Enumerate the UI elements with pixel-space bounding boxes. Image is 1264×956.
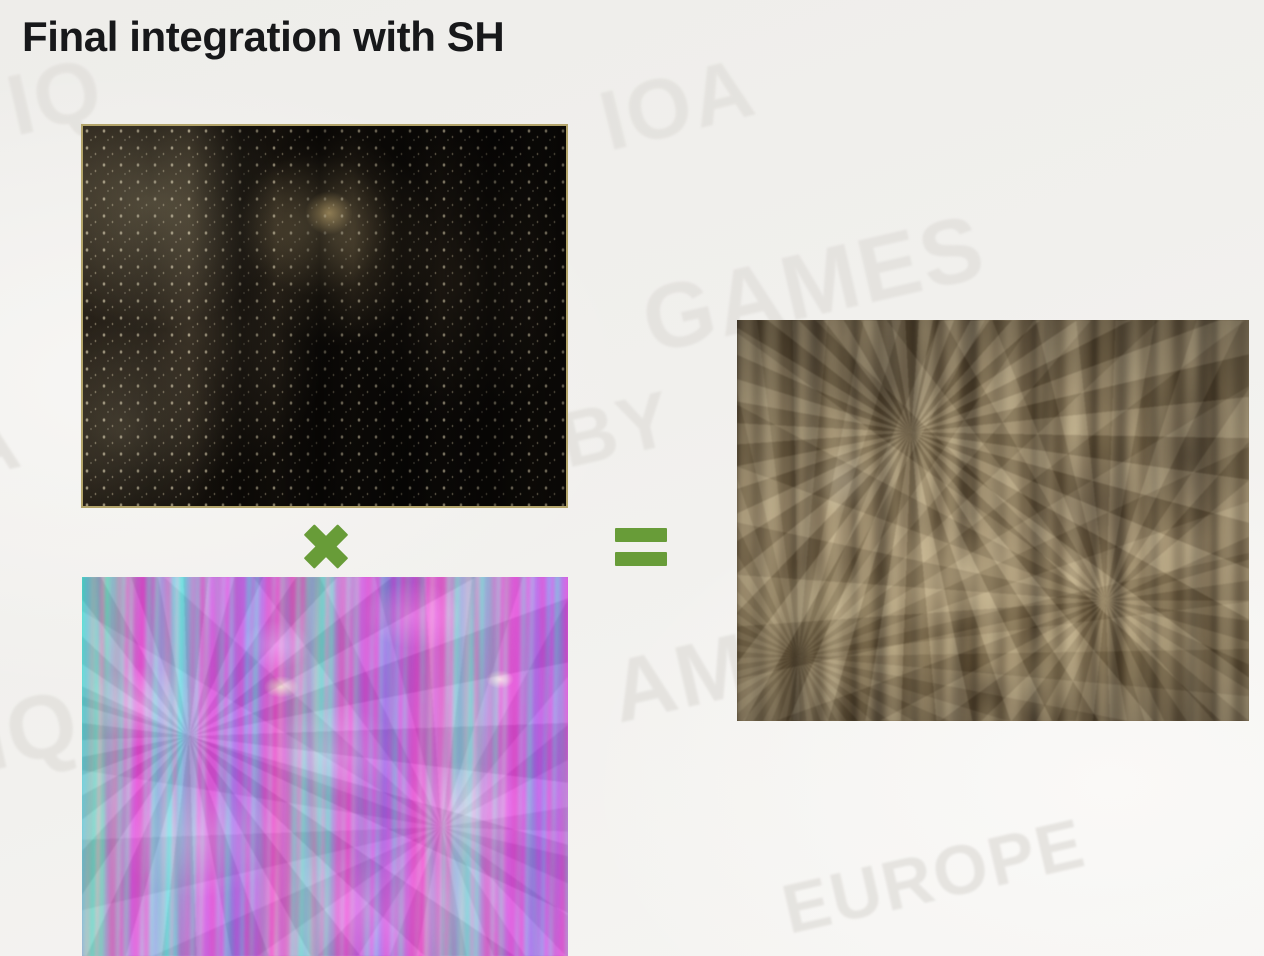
watermark-text: IQ [0, 670, 89, 793]
watermark-text: A [0, 394, 29, 497]
final-render-image [737, 320, 1249, 721]
equals-operator-icon [615, 526, 673, 568]
watermark-text: BY [551, 373, 681, 487]
equals-stroke [615, 552, 667, 566]
normal-map-image [82, 577, 568, 956]
sh-probe-grid-image [81, 124, 568, 508]
sh-highlight-spot [305, 191, 353, 235]
slide-title: Final integration with SH [22, 14, 504, 60]
sh-occlusion-bands [83, 126, 566, 506]
slide-canvas: IQ IOA GAMES BY AME IQ EUROPE A Final in… [0, 0, 1264, 956]
normal-map-noise-layer [82, 577, 568, 956]
watermark-text: IOA [591, 39, 765, 171]
multiply-operator-icon [298, 518, 354, 574]
rock-vignette-layer [737, 320, 1249, 721]
equals-stroke [615, 528, 667, 542]
watermark-text: EUROPE [775, 802, 1093, 949]
